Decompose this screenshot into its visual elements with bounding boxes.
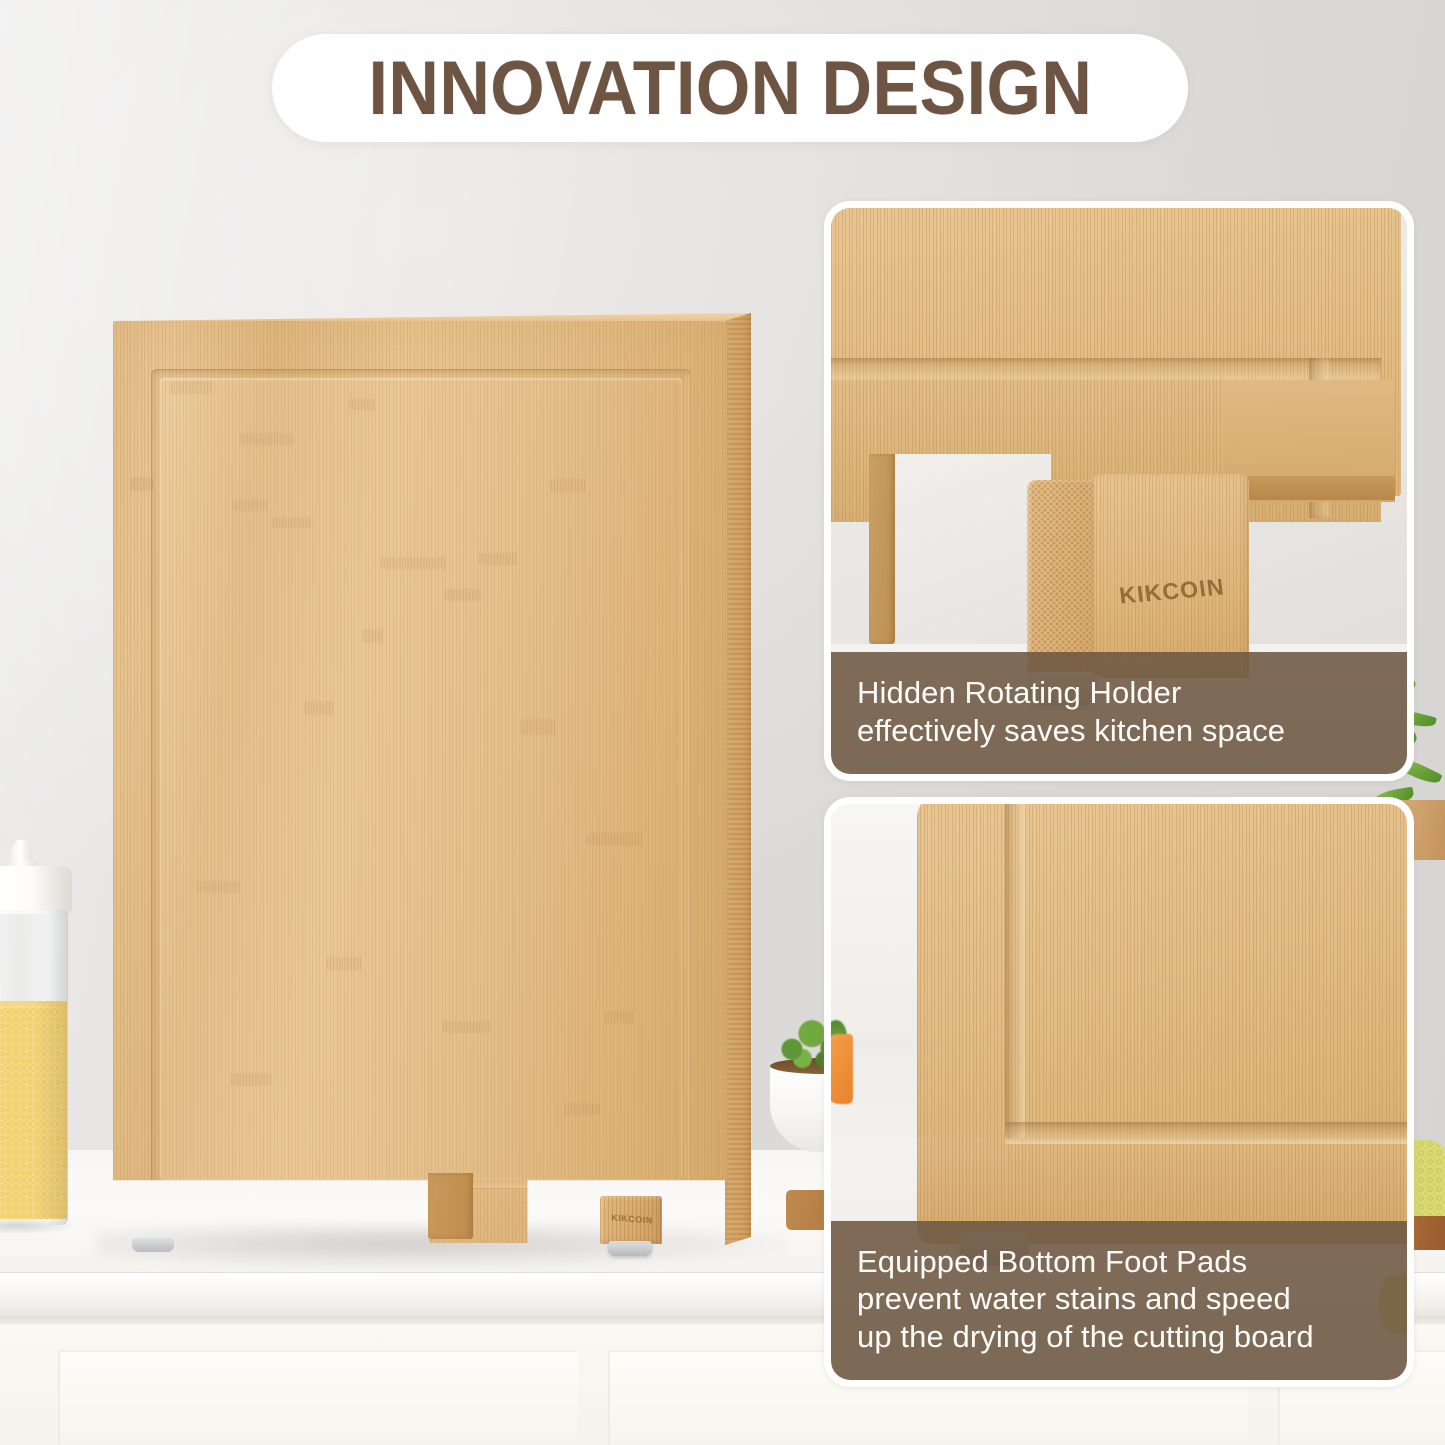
feature-panel-hidden-rotating-holder[interactable]: KIKCOIN Hidden Rotating Holder effective… [824,201,1414,781]
juice-groove-inner-surface [160,378,682,1180]
caption-line: Equipped Bottom Foot Pads [857,1243,1381,1281]
carrot [831,1034,853,1104]
millet-grains [0,1001,67,1219]
bamboo-node [131,477,153,491]
caption-line: up the drying of the cutting board [857,1318,1381,1356]
title-banner: INNOVATION DESIGN [272,34,1188,142]
foot-end-grain-side [1027,480,1097,680]
main-cutting-board [113,313,750,1247]
silicone-foot-pad [132,1238,174,1252]
board-leg-notch [428,1173,473,1239]
panel-caption-holder: Hidden Rotating Holder effectively saves… [831,652,1407,774]
board-leg [869,454,895,644]
board-rotating-foot: KIKCOIN [600,1196,662,1244]
canister-shadow [0,1218,76,1234]
juice-groove-horizontal [1005,1122,1407,1144]
silicone-foot-pad [608,1241,652,1256]
canister-lid [0,866,72,914]
board-side-thickness [725,313,751,1245]
glass-canister [0,840,104,1260]
caption-line: Hidden Rotating Holder [857,674,1381,712]
caption-line: prevent water stains and speed [857,1280,1381,1318]
juice-groove-horizontal [831,358,1381,380]
canister-glass-body [0,910,68,1225]
cabinet-panel [58,1350,578,1445]
juice-groove-vertical [1005,804,1025,1142]
canister-highlight [0,914,1,1219]
board-front-face [113,321,727,1243]
panel-caption-pads: Equipped Bottom Foot Pads prevent water … [831,1221,1407,1380]
page-title: INNOVATION DESIGN [368,45,1092,132]
caption-line: effectively saves kitchen space [857,712,1381,750]
feature-panel-bottom-foot-pads[interactable]: Equipped Bottom Foot Pads prevent water … [824,797,1414,1387]
